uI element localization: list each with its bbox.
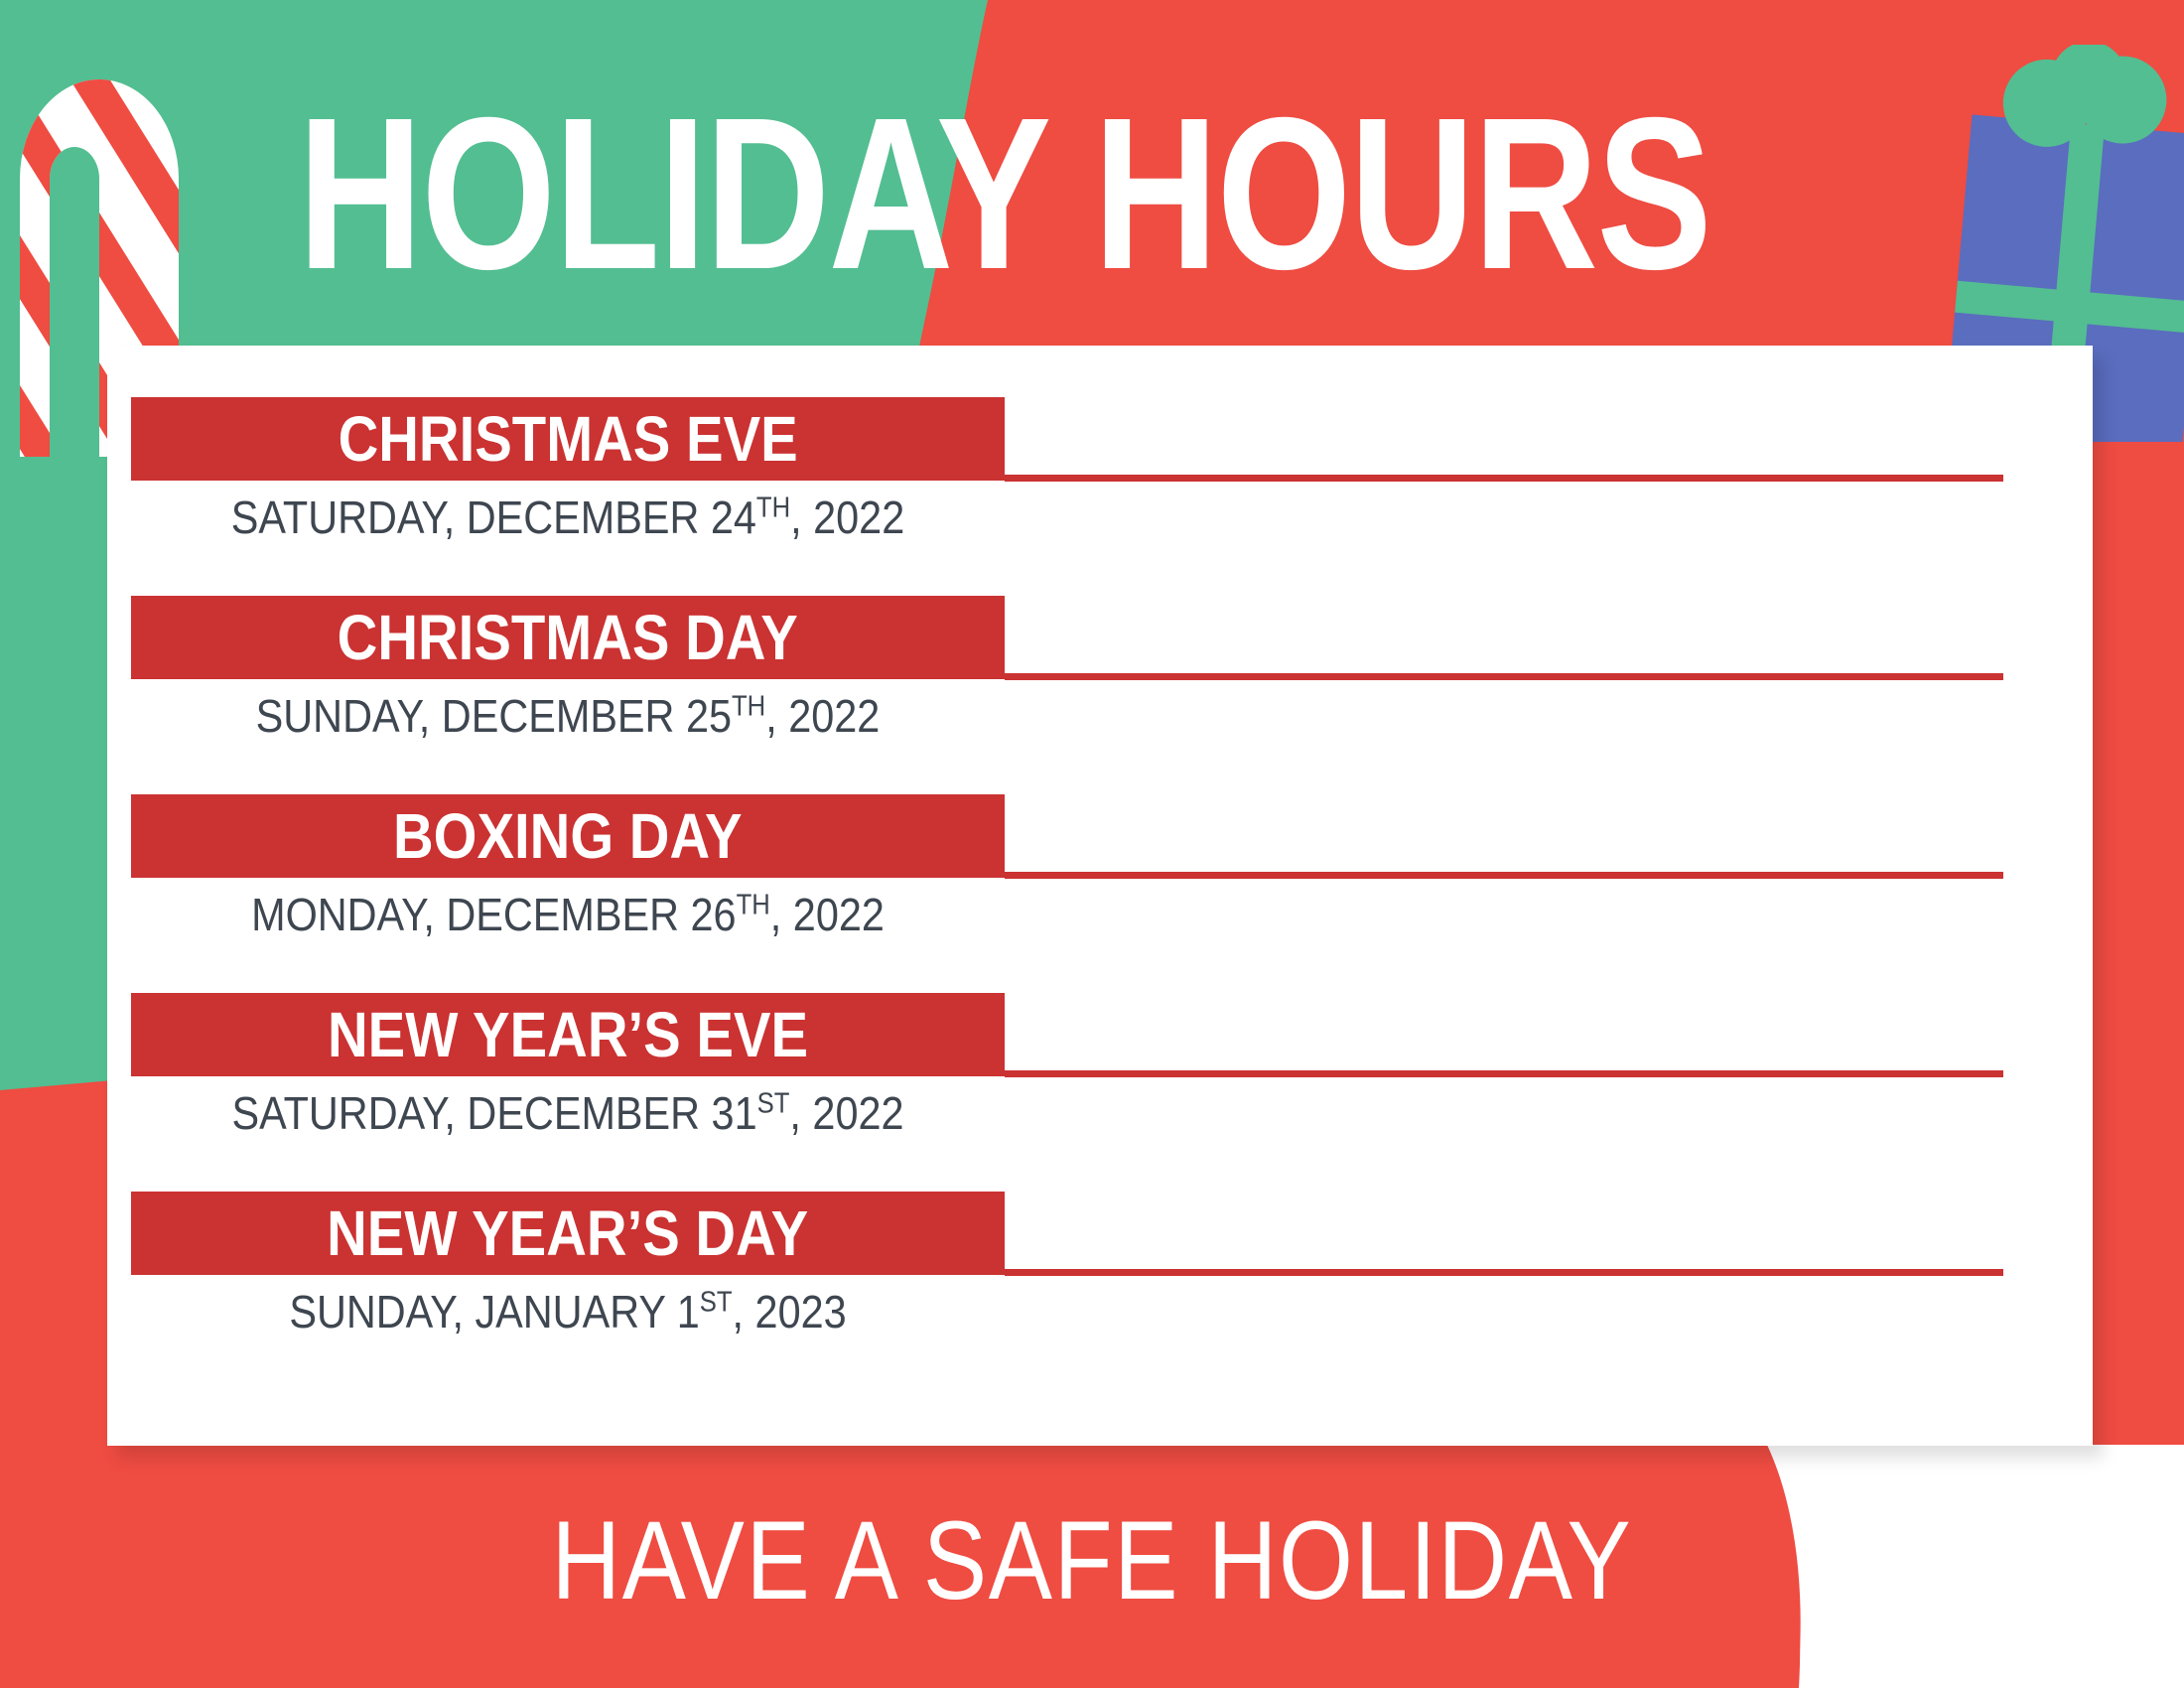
hours-write-in-rule	[1005, 475, 2003, 482]
holiday-date-suffix: , 2022	[770, 889, 885, 940]
holiday-name-banner: BOXING DAY	[131, 794, 1005, 878]
holiday-date-suffix: , 2022	[765, 690, 880, 742]
hours-write-in-rule	[1005, 1269, 2003, 1276]
hours-card: CHRISTMAS EVE SATURDAY, DECEMBER 24TH, 2…	[107, 346, 2093, 1446]
holiday-name-banner: CHRISTMAS EVE	[131, 397, 1005, 481]
holiday-name: CHRISTMAS DAY	[338, 606, 798, 669]
hours-write-in-rule	[1005, 673, 2003, 680]
holiday-date: MONDAY, DECEMBER 26TH, 2022	[175, 884, 961, 945]
holiday-date-suffix: , 2022	[789, 1087, 903, 1139]
page-title: HOLIDAY HOURS	[298, 95, 1584, 294]
holiday-date-ordinal: ST	[757, 1088, 790, 1120]
holiday-date-ordinal: TH	[737, 890, 770, 921]
list-item: CHRISTMAS DAY SUNDAY, DECEMBER 25TH, 202…	[107, 596, 2093, 743]
holiday-date-prefix: SATURDAY, DECEMBER 24	[231, 492, 756, 543]
holiday-date: SATURDAY, DECEMBER 31ST, 2022	[175, 1082, 961, 1144]
holiday-name-banner: CHRISTMAS DAY	[131, 596, 1005, 679]
holiday-name: NEW YEAR’S EVE	[328, 1003, 808, 1066]
holiday-date-suffix: , 2023	[733, 1286, 847, 1337]
holiday-date-suffix: , 2022	[790, 492, 904, 543]
holiday-name-banner: NEW YEAR’S EVE	[131, 993, 1005, 1076]
holiday-name: BOXING DAY	[393, 804, 743, 868]
list-item: BOXING DAY MONDAY, DECEMBER 26TH, 2022	[107, 794, 2093, 941]
holiday-date: SUNDAY, DECEMBER 25TH, 2022	[175, 685, 961, 747]
holiday-name-banner: NEW YEAR’S DAY	[131, 1192, 1005, 1275]
holiday-date-prefix: SATURDAY, DECEMBER 31	[231, 1087, 756, 1139]
list-item: NEW YEAR’S EVE SATURDAY, DECEMBER 31ST, …	[107, 993, 2093, 1140]
poster-header: HOLIDAY HOURS	[0, 0, 2184, 346]
footer-tagline: HAVE A SAFE HOLIDAY	[153, 1505, 2031, 1617]
holiday-date: SUNDAY, JANUARY 1ST, 2023	[175, 1281, 961, 1342]
hours-write-in-rule	[1005, 872, 2003, 879]
holiday-name: CHRISTMAS EVE	[338, 407, 797, 471]
list-item: NEW YEAR’S DAY SUNDAY, JANUARY 1ST, 2023	[107, 1192, 2093, 1338]
hours-list: CHRISTMAS EVE SATURDAY, DECEMBER 24TH, 2…	[107, 346, 2093, 1446]
holiday-date-ordinal: TH	[756, 492, 790, 524]
hours-write-in-rule	[1005, 1070, 2003, 1077]
holiday-hours-poster: HOLIDAY HOURS CHRISTMAS EVE SATURDAY, DE…	[0, 0, 2184, 1688]
holiday-date-prefix: SUNDAY, JANUARY 1	[289, 1286, 699, 1337]
holiday-date-prefix: SUNDAY, DECEMBER 25	[256, 690, 732, 742]
holiday-date: SATURDAY, DECEMBER 24TH, 2022	[175, 487, 961, 548]
holiday-date-ordinal: ST	[700, 1287, 733, 1319]
holiday-date-ordinal: TH	[732, 691, 765, 723]
holiday-date-prefix: MONDAY, DECEMBER 26	[251, 889, 737, 940]
list-item: CHRISTMAS EVE SATURDAY, DECEMBER 24TH, 2…	[107, 397, 2093, 544]
holiday-name: NEW YEAR’S DAY	[327, 1201, 808, 1265]
